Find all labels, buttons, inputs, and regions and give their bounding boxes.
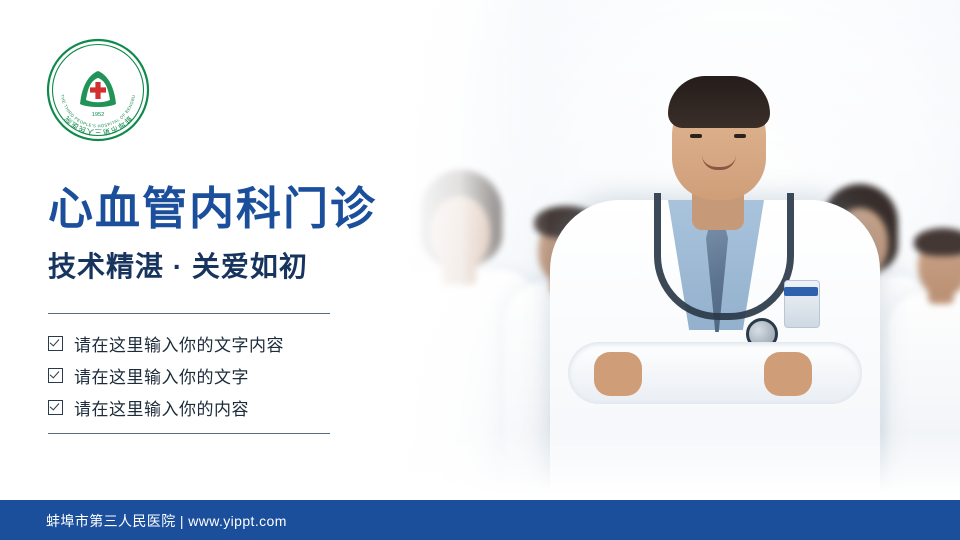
checkbox-icon bbox=[48, 400, 63, 415]
divider-top bbox=[48, 313, 330, 314]
photo-bottom-fade bbox=[400, 430, 960, 500]
doctor-team-photo bbox=[400, 0, 960, 500]
list-item-label: 请在这里输入你的文字 bbox=[74, 363, 249, 388]
divider-bottom bbox=[48, 433, 330, 434]
checkbox-icon bbox=[48, 368, 63, 383]
hospital-logo: 蚌埠市第三人民医院 THE THIRD PEOPLE'S HOSPITAL OF… bbox=[46, 38, 150, 142]
list-item-label: 请在这里输入你的内容 bbox=[74, 395, 249, 420]
lead-doctor-figure bbox=[550, 0, 880, 500]
stethoscope-icon bbox=[654, 193, 794, 320]
photo-left-fade bbox=[400, 0, 550, 500]
list-item: 请在这里输入你的内容 bbox=[48, 392, 378, 422]
bullet-list: 请在这里输入你的文字内容 请在这里输入你的文字 请在这里输入你的内容 bbox=[48, 328, 378, 424]
id-badge-strip bbox=[784, 287, 818, 296]
footer-label: 蚌埠市第三人民医院 | www.yippt.com bbox=[46, 511, 287, 531]
page-title: 心血管内科门诊 bbox=[48, 186, 377, 231]
list-item: 请在这里输入你的文字 bbox=[48, 360, 378, 390]
footer-bar: 蚌埠市第三人民医院 | www.yippt.com bbox=[0, 500, 960, 540]
list-item: 请在这里输入你的文字内容 bbox=[48, 328, 378, 358]
slide-canvas: 蚌埠市第三人民医院 THE THIRD PEOPLE'S HOSPITAL OF… bbox=[0, 0, 960, 540]
svg-text:1952: 1952 bbox=[92, 112, 104, 118]
list-item-label: 请在这里输入你的文字内容 bbox=[74, 331, 284, 356]
checkbox-icon bbox=[48, 336, 63, 351]
page-subtitle: 技术精湛 · 关爱如初 bbox=[48, 253, 308, 281]
